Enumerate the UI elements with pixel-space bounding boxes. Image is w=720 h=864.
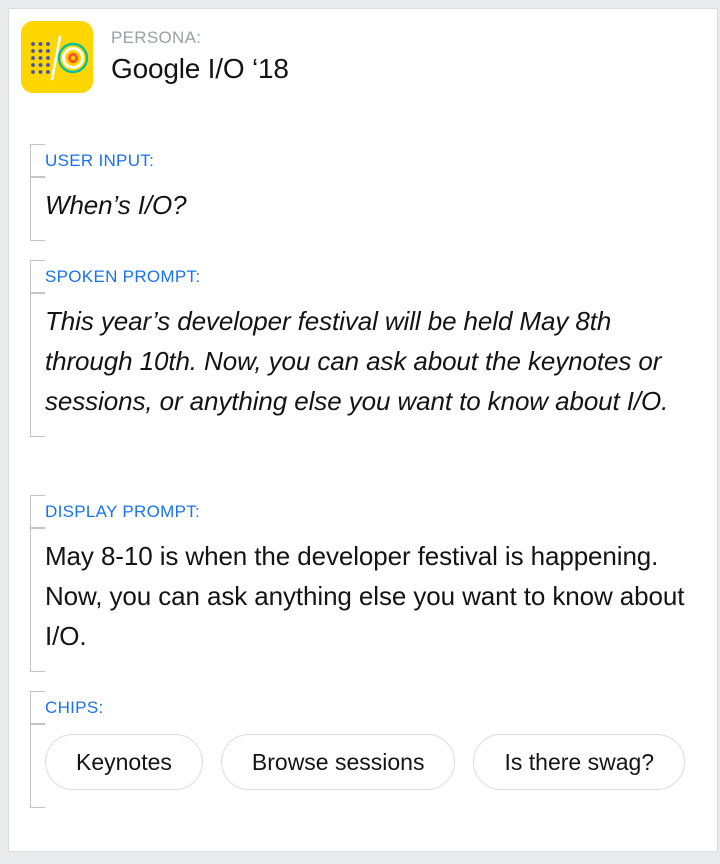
- spoken-prompt-label: SPOKEN PROMPT:: [45, 267, 200, 287]
- section-spoken-prompt: SPOKEN PROMPT: This year’s developer fes…: [23, 260, 717, 437]
- persona-header: PERSONA: Google I/O ‘18: [21, 21, 289, 93]
- chip-keynotes[interactable]: Keynotes: [45, 734, 203, 790]
- display-prompt-label: DISPLAY PROMPT:: [45, 502, 200, 522]
- bracket-bottom-tick: [30, 807, 45, 808]
- persona-label: PERSONA:: [111, 27, 289, 49]
- user-input-content-bracket: When’s I/O?: [23, 177, 717, 241]
- chips-label-bracket: CHIPS:: [23, 691, 717, 724]
- page-title: Google I/O ‘18: [111, 51, 289, 87]
- chips-label: CHIPS:: [45, 698, 103, 718]
- bracket-bottom-tick: [30, 671, 45, 672]
- display-prompt-label-bracket: DISPLAY PROMPT:: [23, 495, 717, 528]
- display-prompt-content-bracket: May 8-10 is when the developer festival …: [23, 528, 717, 672]
- display-prompt-label-row: DISPLAY PROMPT:: [45, 495, 717, 528]
- user-input-content: When’s I/O?: [45, 177, 717, 241]
- spoken-prompt-content: This year’s developer festival will be h…: [45, 293, 717, 437]
- chips-row: Keynotes Browse sessions Is there swag?: [45, 724, 717, 808]
- section-user-input: USER INPUT: When’s I/O?: [23, 144, 717, 241]
- chips-label-row: CHIPS:: [45, 691, 717, 724]
- spoken-prompt-content-bracket: This year’s developer festival will be h…: [23, 293, 717, 437]
- bracket-bottom-tick: [30, 240, 45, 241]
- display-prompt-text: May 8-10 is when the developer festival …: [45, 536, 685, 656]
- persona-card: PERSONA: Google I/O ‘18 USER INPUT: When…: [8, 8, 718, 852]
- section-display-prompt: DISPLAY PROMPT: May 8-10 is when the dev…: [23, 495, 717, 672]
- user-input-label-bracket: USER INPUT:: [23, 144, 717, 177]
- section-chips: CHIPS: Keynotes Browse sessions Is there…: [23, 691, 717, 808]
- chips-content-bracket: Keynotes Browse sessions Is there swag?: [23, 724, 717, 808]
- persona-text-group: PERSONA: Google I/O ‘18: [111, 27, 289, 87]
- user-input-text: When’s I/O?: [45, 185, 685, 225]
- spoken-prompt-label-row: SPOKEN PROMPT:: [45, 260, 717, 293]
- chip-is-there-swag[interactable]: Is there swag?: [473, 734, 685, 790]
- spoken-prompt-text: This year’s developer festival will be h…: [45, 301, 685, 421]
- user-input-label-row: USER INPUT:: [45, 144, 717, 177]
- display-prompt-content: May 8-10 is when the developer festival …: [45, 528, 717, 672]
- chip-browse-sessions[interactable]: Browse sessions: [221, 734, 456, 790]
- user-input-label: USER INPUT:: [45, 151, 154, 171]
- bracket-bottom-tick: [30, 436, 45, 437]
- spoken-prompt-label-bracket: SPOKEN PROMPT:: [23, 260, 717, 293]
- google-io-logo-icon: [21, 21, 93, 93]
